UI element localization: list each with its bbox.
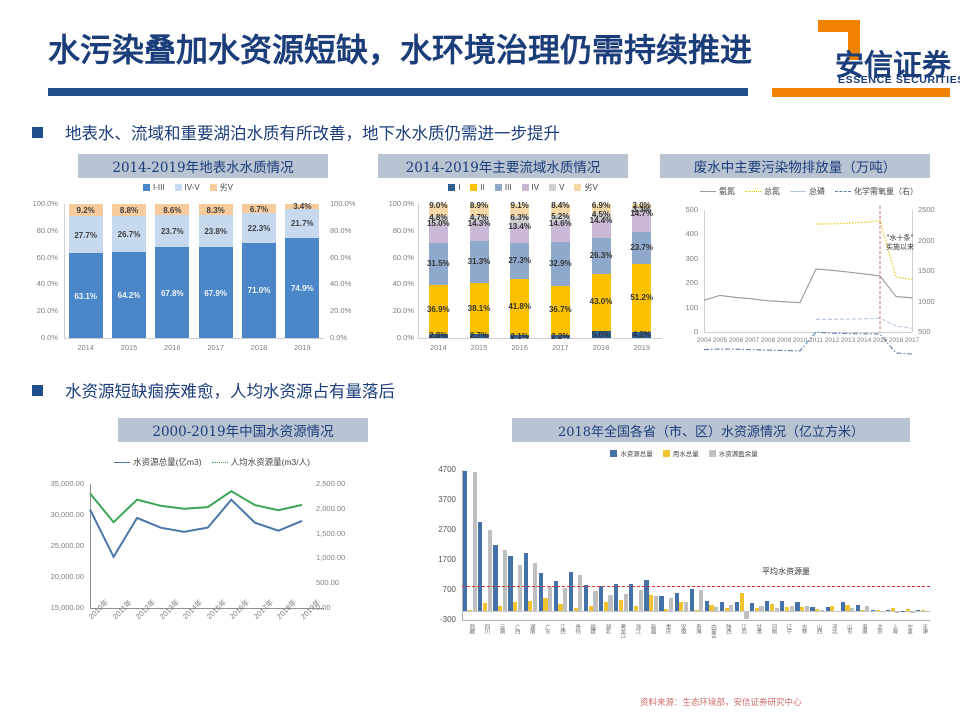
y-axis-tick: 0.0%	[374, 333, 414, 342]
bar-value-label: 8.8%	[112, 206, 146, 215]
bar	[593, 591, 597, 611]
legend-color-swatch	[143, 184, 150, 191]
x-axis-tick: 广西	[513, 624, 521, 633]
chart-4-lines	[12, 448, 412, 663]
bar-value-label: 8.6%	[155, 206, 189, 215]
bar	[473, 472, 477, 611]
bar	[619, 600, 623, 611]
bar	[720, 602, 724, 611]
bullet-square-icon	[32, 127, 43, 138]
y-axis-tick: 60.0%	[374, 253, 414, 262]
bar-value-label: 9.1%	[499, 201, 541, 210]
bar-column: 71.0%22.3%6.7%	[242, 204, 276, 338]
bar	[835, 611, 839, 612]
chart-surface-water-quality: I-IIIIV-V劣V 0.0%0.0%20.0%20.0%40.0%40.0%…	[12, 182, 364, 360]
legend-label: IV	[532, 183, 540, 192]
x-axis-tick: 青海	[694, 624, 702, 633]
x-axis-tick: 贵州	[573, 624, 581, 633]
y-axis-tick: 100.0%	[374, 199, 414, 208]
chart-china-water-resources: 水资源总量(亿m3)人均水资源量(m3/人) 15,000.0020,000.0…	[12, 448, 412, 663]
legend-label: 劣V	[584, 182, 597, 193]
line-series	[704, 269, 912, 303]
y-axis-tick-right: 0.0%	[330, 333, 370, 342]
bar-value-label: 51.2%	[621, 293, 663, 302]
bar	[599, 586, 603, 611]
legend-color-swatch	[610, 450, 617, 457]
bar	[921, 610, 925, 611]
y-axis-tick: 80.0%	[374, 226, 414, 235]
bar-value-label: 6.3%	[499, 213, 541, 222]
line-series	[816, 318, 912, 328]
average-line	[462, 586, 930, 587]
bar	[574, 608, 578, 611]
bar-column: 74.9%21.7%3.4%	[285, 204, 319, 338]
bar	[659, 596, 663, 611]
bar	[805, 606, 809, 611]
bar	[468, 610, 472, 611]
legend-label: IV-V	[185, 183, 200, 192]
bar-value-label: 8.9%	[458, 201, 500, 210]
legend-label: 水资源总量	[620, 448, 653, 458]
legend-color-swatch	[470, 184, 477, 191]
bar	[860, 610, 864, 611]
y-axis-tick-right: 60.0%	[330, 253, 370, 262]
x-axis-zero-line	[462, 611, 930, 612]
bar-value-label: 6.9%	[580, 201, 622, 210]
x-axis-tick: 西藏	[467, 624, 475, 633]
x-axis-tick: 浙江	[633, 624, 641, 633]
y-axis-tick: 1700	[420, 555, 456, 564]
x-axis-tick: 北京	[875, 624, 883, 633]
bar	[770, 604, 774, 611]
chart-3-lines	[668, 182, 950, 360]
legend-color-swatch	[495, 184, 502, 191]
bar-value-label: 32.9%	[539, 259, 581, 268]
x-axis-tick: 山西	[815, 624, 823, 633]
bar	[865, 606, 869, 611]
bar-value-label: 27.7%	[69, 231, 103, 240]
bar	[563, 588, 567, 611]
bar	[649, 595, 653, 612]
bar	[518, 565, 522, 611]
legend-item: IV-V	[175, 183, 200, 192]
bar	[880, 611, 884, 612]
legend-color-swatch	[663, 450, 670, 457]
x-axis-tick: 江苏	[739, 624, 747, 633]
legend-label: 水资源盈余量	[719, 448, 758, 458]
y-axis-tick-left: 100.0%	[14, 199, 58, 208]
legend-label: III	[505, 183, 512, 192]
chart-2-legend: IIIIIIIVV劣V	[378, 182, 668, 193]
chart-3-annotation: "水十条"实施以来	[886, 234, 914, 253]
legend-color-swatch	[210, 184, 217, 191]
bar	[729, 605, 733, 611]
bar	[569, 572, 573, 611]
bar	[539, 573, 543, 611]
bar-column: 67.9%23.8%8.3%	[199, 204, 233, 338]
bar	[785, 607, 789, 611]
bar	[508, 556, 512, 611]
bar	[694, 610, 698, 611]
x-axis-line	[462, 620, 930, 621]
x-axis-tick: 四川	[482, 624, 490, 633]
bar	[705, 601, 709, 611]
bar-value-label: 3.0%	[621, 201, 663, 210]
x-axis-tick: 河南	[769, 624, 777, 633]
y-axis-tick-right: 100.0%	[330, 199, 370, 208]
bar	[820, 610, 824, 611]
legend-item: 用水总量	[663, 448, 699, 458]
bar	[614, 584, 618, 611]
legend-color-swatch	[574, 184, 581, 191]
bar	[584, 585, 588, 611]
x-axis-tick: 2019	[282, 343, 322, 352]
bar-value-label: 38.1%	[458, 304, 500, 313]
bar	[850, 608, 854, 611]
y-axis-tick-left: 20.0%	[14, 306, 58, 315]
bar-value-label: 43.0%	[580, 297, 622, 306]
chart-1-legend: I-IIIIV-V劣V	[12, 182, 364, 193]
legend-color-swatch	[709, 450, 716, 457]
slide-header: 水污染叠加水资源短缺，水环境治理仍需持续推进 安信证券 ESSENCE SECU…	[0, 0, 960, 100]
y-axis-tick-left: 0.0%	[14, 333, 58, 342]
bar	[845, 605, 849, 611]
bar-value-label: 4.2%	[621, 330, 663, 339]
bar-value-label: 36.9%	[417, 305, 459, 314]
x-axis-tick: 湖北	[603, 624, 611, 633]
bar-value-label: 67.9%	[199, 289, 233, 298]
bar	[810, 607, 814, 611]
legend-item: II	[470, 183, 484, 192]
bar-value-label: 2.8%	[417, 331, 459, 340]
bar	[910, 611, 914, 613]
bar-value-label: 26.3%	[580, 251, 622, 260]
bar-value-label: 64.2%	[112, 291, 146, 300]
bar	[699, 590, 703, 611]
bar	[744, 611, 748, 619]
bar-column: 64.2%26.7%8.8%	[112, 204, 146, 338]
bar	[503, 550, 507, 611]
line-series	[90, 491, 302, 522]
x-axis-line	[64, 338, 324, 339]
bar-value-label: 9.0%	[417, 201, 459, 210]
x-axis-tick: 海南	[860, 624, 868, 633]
legend-label: V	[559, 183, 564, 192]
legend-item: 劣V	[210, 182, 233, 193]
x-axis-tick: 2014	[66, 343, 106, 352]
x-axis-tick: 2015	[109, 343, 149, 352]
x-axis-tick: 2019	[622, 343, 662, 352]
bar	[765, 601, 769, 611]
title-underline-rule	[48, 88, 748, 96]
legend-label: 用水总量	[673, 448, 699, 458]
chart-2-title-banner: 2014-2019年主要流域水质情况	[378, 154, 628, 178]
chart-4-title-banner: 2000-2019年中国水资源情况	[118, 418, 368, 442]
bar-value-label: 5.0%	[580, 330, 622, 339]
bar	[488, 530, 492, 611]
x-axis-tick: 2017	[901, 337, 923, 344]
legend-label: II	[480, 183, 484, 192]
bar	[759, 606, 763, 611]
bar	[524, 553, 528, 611]
bar	[543, 598, 547, 611]
x-axis-tick: 上海	[890, 624, 898, 633]
bar	[478, 522, 482, 611]
bar-value-label: 31.3%	[458, 257, 500, 266]
legend-label: 劣V	[220, 182, 233, 193]
bar	[634, 606, 638, 611]
bar-value-label: 23.7%	[621, 243, 663, 252]
x-axis-tick: 陕西	[724, 624, 732, 633]
bar	[589, 606, 593, 611]
x-axis-tick: 广东	[543, 624, 551, 633]
chart-province-water-resources: 水资源总量用水总量水资源盈余量 -3007001700270037004700西…	[418, 448, 950, 663]
x-axis-tick: 辽宁	[784, 624, 792, 633]
x-axis-tick: 新疆	[649, 624, 657, 633]
legend-color-swatch	[549, 184, 556, 191]
company-logo: 安信证券 ESSENCE SECURITIES	[790, 20, 950, 92]
legend-color-swatch	[522, 184, 529, 191]
chart-3-title-banner: 废水中主要污染物排放量（万吨）	[660, 154, 930, 178]
bar	[664, 609, 668, 611]
bar-value-label: 26.7%	[112, 230, 146, 239]
bar-value-label: 8.3%	[199, 206, 233, 215]
bar-value-label: 63.1%	[69, 292, 103, 301]
bar-value-label: 4.8%	[417, 213, 459, 222]
bar-column: 67.8%23.7%8.6%	[155, 204, 189, 338]
bar	[750, 603, 754, 611]
bar	[856, 605, 860, 611]
bar	[826, 607, 830, 612]
bar	[528, 601, 532, 611]
legend-item: I	[448, 183, 460, 192]
x-axis-tick: 2016	[500, 343, 540, 352]
bar	[513, 602, 517, 611]
y-axis-tick-left: 40.0%	[14, 279, 58, 288]
annotation-line-2: 实施以来	[886, 243, 914, 252]
legend-label: I-III	[153, 183, 165, 192]
x-axis-tick: 重庆	[664, 624, 672, 633]
y-axis-tick: 3700	[420, 495, 456, 504]
x-axis-tick: 云南	[498, 624, 506, 633]
bar	[675, 593, 679, 611]
bar	[725, 608, 729, 611]
bar	[679, 602, 683, 611]
y-axis-tick: 700	[420, 585, 456, 594]
chart-wastewater-pollutants: 氨氮总氮总磷化学需氧量（右） 0100200300400500500100015…	[668, 182, 950, 360]
bar-value-label: 71.0%	[242, 286, 276, 295]
bullet-point-2: 水资源短缺痼疾难愈，人均水资源占有量落后	[32, 378, 395, 402]
chart-1-title-banner: 2014-2019年地表水水质情况	[78, 154, 328, 178]
bar	[895, 611, 899, 613]
bar	[639, 590, 643, 611]
bar	[624, 594, 628, 611]
bar	[690, 589, 694, 611]
legend-item: 水资源总量	[610, 448, 653, 458]
legend-color-swatch	[448, 184, 455, 191]
bullet-square-icon	[32, 385, 43, 396]
bullet-1-text: 地表水、流域和重要湖泊水质有所改善，地下水水质仍需进一步提升	[65, 120, 560, 144]
bar	[684, 602, 688, 611]
bar	[841, 602, 845, 611]
bar	[901, 611, 905, 612]
legend-item: IV	[522, 183, 540, 192]
y-axis-tick: 40.0%	[374, 279, 414, 288]
bar-value-label: 36.7%	[539, 305, 581, 314]
bar-value-label: 13.4%	[499, 222, 541, 231]
x-axis-tick: 2015	[459, 343, 499, 352]
bar-value-label: 41.8%	[499, 302, 541, 311]
logo-orange-bar	[772, 88, 950, 97]
bar	[740, 593, 744, 611]
x-axis-tick: 福建	[588, 624, 596, 633]
bar	[916, 610, 920, 611]
legend-color-swatch	[175, 184, 182, 191]
x-axis-tick: 江西	[558, 624, 566, 633]
bar	[815, 609, 819, 611]
y-axis-tick-right: 80.0%	[330, 226, 370, 235]
bar	[498, 606, 502, 611]
bar	[548, 586, 552, 611]
legend-item: III	[495, 183, 512, 192]
bar	[735, 602, 739, 611]
bar	[795, 602, 799, 611]
x-axis-tick: 河北	[830, 624, 838, 633]
bar-value-label: 8.4%	[539, 201, 581, 210]
bar	[830, 606, 834, 611]
x-axis-tick: 山东	[845, 624, 853, 633]
bar	[654, 596, 658, 611]
legend-item: V	[549, 183, 564, 192]
bar-column: 63.1%27.7%9.2%	[69, 204, 103, 338]
bar	[755, 608, 759, 611]
bar-value-label: 6.7%	[242, 205, 276, 214]
y-axis-tick-left: 60.0%	[14, 253, 58, 262]
x-axis-tick: 2018	[239, 343, 279, 352]
x-axis-tick: 黑龙江	[618, 624, 626, 638]
x-axis-tick: 内蒙古	[709, 624, 717, 638]
bar	[775, 608, 779, 611]
legend-item: 劣V	[574, 182, 597, 193]
average-line-label: 平均水资源量	[762, 566, 810, 577]
bar-value-label: 4.7%	[458, 213, 500, 222]
bar	[493, 545, 497, 611]
chart-5-legend: 水资源总量用水总量水资源盈余量	[418, 448, 950, 458]
bar	[578, 575, 582, 611]
bar-value-label: 31.5%	[417, 259, 459, 268]
bar	[800, 607, 804, 611]
y-axis-tick-right: 20.0%	[330, 306, 370, 315]
bar-value-label: 2.1%	[499, 332, 541, 341]
bar-value-label: 4.5%	[580, 210, 622, 219]
bar-value-label: 23.8%	[199, 227, 233, 236]
bar-value-label: 74.9%	[285, 284, 319, 293]
y-axis-line	[64, 204, 65, 338]
x-axis-tick: 安徽	[679, 624, 687, 633]
x-axis-tick: 甘肃	[754, 624, 762, 633]
bar	[644, 580, 648, 612]
bar-column	[632, 204, 651, 338]
bar	[886, 610, 890, 611]
bar-value-label: 67.8%	[155, 289, 189, 298]
bar	[709, 605, 713, 611]
y-axis-tick: -300	[420, 615, 456, 624]
x-axis-tick: 天津	[920, 624, 928, 633]
x-axis-tick: 湖南	[528, 624, 536, 633]
bar	[876, 610, 880, 611]
x-axis-tick: 2017	[196, 343, 236, 352]
bar	[604, 602, 608, 611]
y-axis-tick-left: 80.0%	[14, 226, 58, 235]
bar	[558, 604, 562, 611]
bar-value-label: 2.7%	[458, 331, 500, 340]
bar-value-label: 3.4%	[285, 202, 319, 211]
bar	[483, 603, 487, 611]
bar	[906, 609, 910, 611]
y-axis-tick: 2700	[420, 525, 456, 534]
chart-river-basin-quality: IIIIIIIVV劣V 0.0%20.0%40.0%60.0%80.0%100.…	[378, 182, 668, 360]
bar-value-label: 27.3%	[499, 256, 541, 265]
bar-value-label: 5.2%	[539, 212, 581, 221]
bar	[925, 611, 929, 612]
x-axis-tick: 2014	[418, 343, 458, 352]
bar	[780, 601, 784, 611]
x-axis-tick: 2018	[581, 343, 621, 352]
logo-english-name: ESSENCE SECURITIES	[838, 74, 960, 86]
bar	[714, 607, 718, 611]
bar	[871, 610, 875, 611]
legend-item: I-III	[143, 183, 165, 192]
bar	[608, 595, 612, 611]
x-axis-tick: 2017	[540, 343, 580, 352]
y-axis-tick: 4700	[420, 465, 456, 474]
bar	[669, 598, 673, 611]
bullet-point-1: 地表水、流域和重要湖泊水质有所改善，地下水水质仍需进一步提升	[32, 120, 560, 144]
legend-item: 水资源盈余量	[709, 448, 758, 458]
chart-5-title-banner: 2018年全国各省（市、区）水资源情况（亿立方米）	[512, 418, 910, 442]
y-axis-tick: 20.0%	[374, 306, 414, 315]
bar-value-label: 9.2%	[69, 206, 103, 215]
slide-root: 水污染叠加水资源短缺，水环境治理仍需持续推进 安信证券 ESSENCE SECU…	[0, 0, 960, 720]
bar-value-label: 23.7%	[155, 227, 189, 236]
legend-label: I	[458, 183, 460, 192]
bar	[891, 608, 895, 611]
x-axis-tick: 2016	[152, 343, 192, 352]
bar-value-label: 22.3%	[242, 224, 276, 233]
bar	[463, 471, 467, 611]
bullet-2-text: 水资源短缺痼疾难愈，人均水资源占有量落后	[65, 378, 395, 402]
bar-value-label: 21.7%	[285, 219, 319, 228]
x-axis-tick: 宁夏	[905, 624, 913, 633]
source-footer: 资料来源：生态环境部，安信证券研究中心	[640, 696, 802, 708]
bar	[790, 606, 794, 611]
page-title: 水污染叠加水资源短缺，水环境治理仍需持续推进	[48, 25, 752, 71]
bar-value-label: 2.2%	[539, 332, 581, 341]
x-axis-tick: 吉林	[800, 624, 808, 633]
bar	[629, 584, 633, 611]
y-axis-tick-right: 40.0%	[330, 279, 370, 288]
